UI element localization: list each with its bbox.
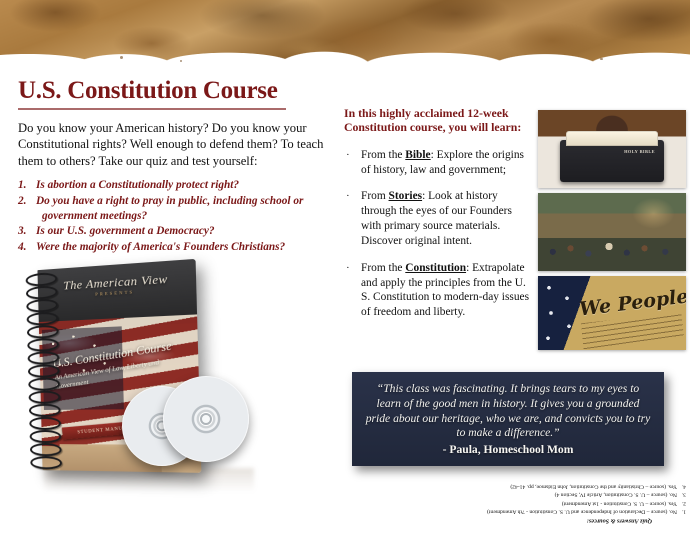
photo-child-reading-bible: HOLY BIBLE bbox=[538, 110, 686, 188]
left-column: U.S. Constitution Course Do you know you… bbox=[18, 78, 330, 256]
answer-number: 2. bbox=[677, 499, 686, 507]
answer-item: 1.No. (source – Declaration of Independe… bbox=[398, 507, 686, 515]
parchment-texture bbox=[0, 0, 690, 62]
quiz-text: Is abortion a Constitutionally protect r… bbox=[36, 179, 239, 191]
intro-paragraph: Do you know your American history? Do yo… bbox=[18, 120, 330, 170]
bullet-lead: From the bbox=[361, 149, 405, 161]
testimonial-text: “This class was fascinating. It brings t… bbox=[364, 382, 652, 441]
bible-label: HOLY BIBLE bbox=[624, 149, 655, 155]
answer-number: 1. bbox=[677, 507, 686, 515]
spiral-binding bbox=[25, 270, 56, 470]
dvd-disc-front bbox=[163, 376, 249, 462]
answer-text: No. (source – U. S. Constitution, Articl… bbox=[555, 492, 677, 498]
bullet-lead: From bbox=[361, 190, 389, 202]
learn-heading: In this highly acclaimed 12-week Constit… bbox=[344, 106, 530, 135]
answer-text: Yes. (source – Christianity and the Cons… bbox=[510, 483, 677, 489]
quiz-number: 2. bbox=[18, 194, 36, 209]
answer-text: No. (source – Declaration of Independenc… bbox=[487, 509, 677, 515]
quiz-item: 3.Is our U.S. government a Democracy? bbox=[18, 224, 330, 239]
answer-number: 3. bbox=[677, 490, 686, 498]
quiz-item: 4.Were the majority of America's Founder… bbox=[18, 240, 330, 255]
answer-number: 4. bbox=[677, 482, 686, 490]
quiz-answers-list: 1.No. (source – Declaration of Independe… bbox=[398, 482, 686, 516]
answer-item: 3.No. (source – U. S. Constitution, Arti… bbox=[398, 490, 686, 498]
list-item: · From the Constitution: Extrapolate and… bbox=[344, 261, 530, 320]
quiz-list: 1.Is abortion a Constitutionally protect… bbox=[18, 178, 330, 254]
quiz-answers-heading: Quiz Answers & Sources: bbox=[398, 518, 652, 525]
right-column: In this highly acclaimed 12-week Constit… bbox=[344, 106, 530, 332]
answer-text: Yes. (source – U. S. Constitution - 1st … bbox=[562, 500, 677, 506]
list-item: · From the Bible: Explore the origins of… bbox=[344, 148, 530, 178]
parchment-speck bbox=[120, 56, 123, 59]
parchment-speck bbox=[600, 58, 603, 60]
bible-book-icon: HOLY BIBLE bbox=[560, 140, 664, 182]
flyer-page: U.S. Constitution Course Do you know you… bbox=[0, 0, 690, 533]
photo-strip: HOLY BIBLE We People bbox=[538, 110, 686, 355]
learn-bullet-list: · From the Bible: Explore the origins of… bbox=[344, 148, 530, 320]
page-title: U.S. Constitution Course bbox=[18, 78, 330, 105]
bullet-dot-icon: · bbox=[346, 261, 350, 275]
testimonial-panel: “This class was fascinating. It brings t… bbox=[352, 372, 664, 466]
header-banner bbox=[0, 0, 690, 62]
quiz-number: 1. bbox=[18, 178, 36, 193]
quiz-item: 1.Is abortion a Constitutionally protect… bbox=[18, 178, 330, 193]
quiz-number: 4. bbox=[18, 240, 36, 255]
quiz-answers-block: Quiz Answers & Sources: 1.No. (source – … bbox=[398, 482, 686, 525]
quiz-item: 2.Do you have a right to pray in public,… bbox=[18, 194, 330, 223]
testimonial-attribution: - Paula, Homeschool Mom bbox=[443, 443, 574, 456]
product-image: The American View PRESENTS U.S. Constitu… bbox=[18, 268, 250, 492]
list-item: · From Stories: Look at history through … bbox=[344, 189, 530, 248]
bullet-lead: From the bbox=[361, 262, 405, 274]
parchment-speck bbox=[180, 60, 182, 62]
bullet-keyword: Constitution bbox=[405, 262, 466, 274]
photo-we-the-people: We People bbox=[538, 276, 686, 350]
bullet-dot-icon: · bbox=[346, 148, 350, 162]
signing-figures bbox=[538, 221, 686, 265]
quiz-text: Were the majority of America's Founders … bbox=[36, 241, 285, 253]
bullet-keyword: Stories bbox=[389, 190, 423, 202]
quiz-text: Is our U.S. government a Democracy? bbox=[36, 225, 215, 237]
quiz-text: Do you have a right to pray in public, i… bbox=[36, 195, 303, 222]
photo-constitution-signing bbox=[538, 193, 686, 271]
bullet-dot-icon: · bbox=[346, 189, 350, 203]
answer-item: 2.Yes. (source – U. S. Constitution - 1s… bbox=[398, 499, 686, 507]
quiz-number: 3. bbox=[18, 224, 36, 239]
answer-item: 4.Yes. (source – Christianity and the Co… bbox=[398, 482, 686, 490]
title-underline bbox=[18, 108, 286, 110]
bullet-keyword: Bible bbox=[405, 149, 430, 161]
